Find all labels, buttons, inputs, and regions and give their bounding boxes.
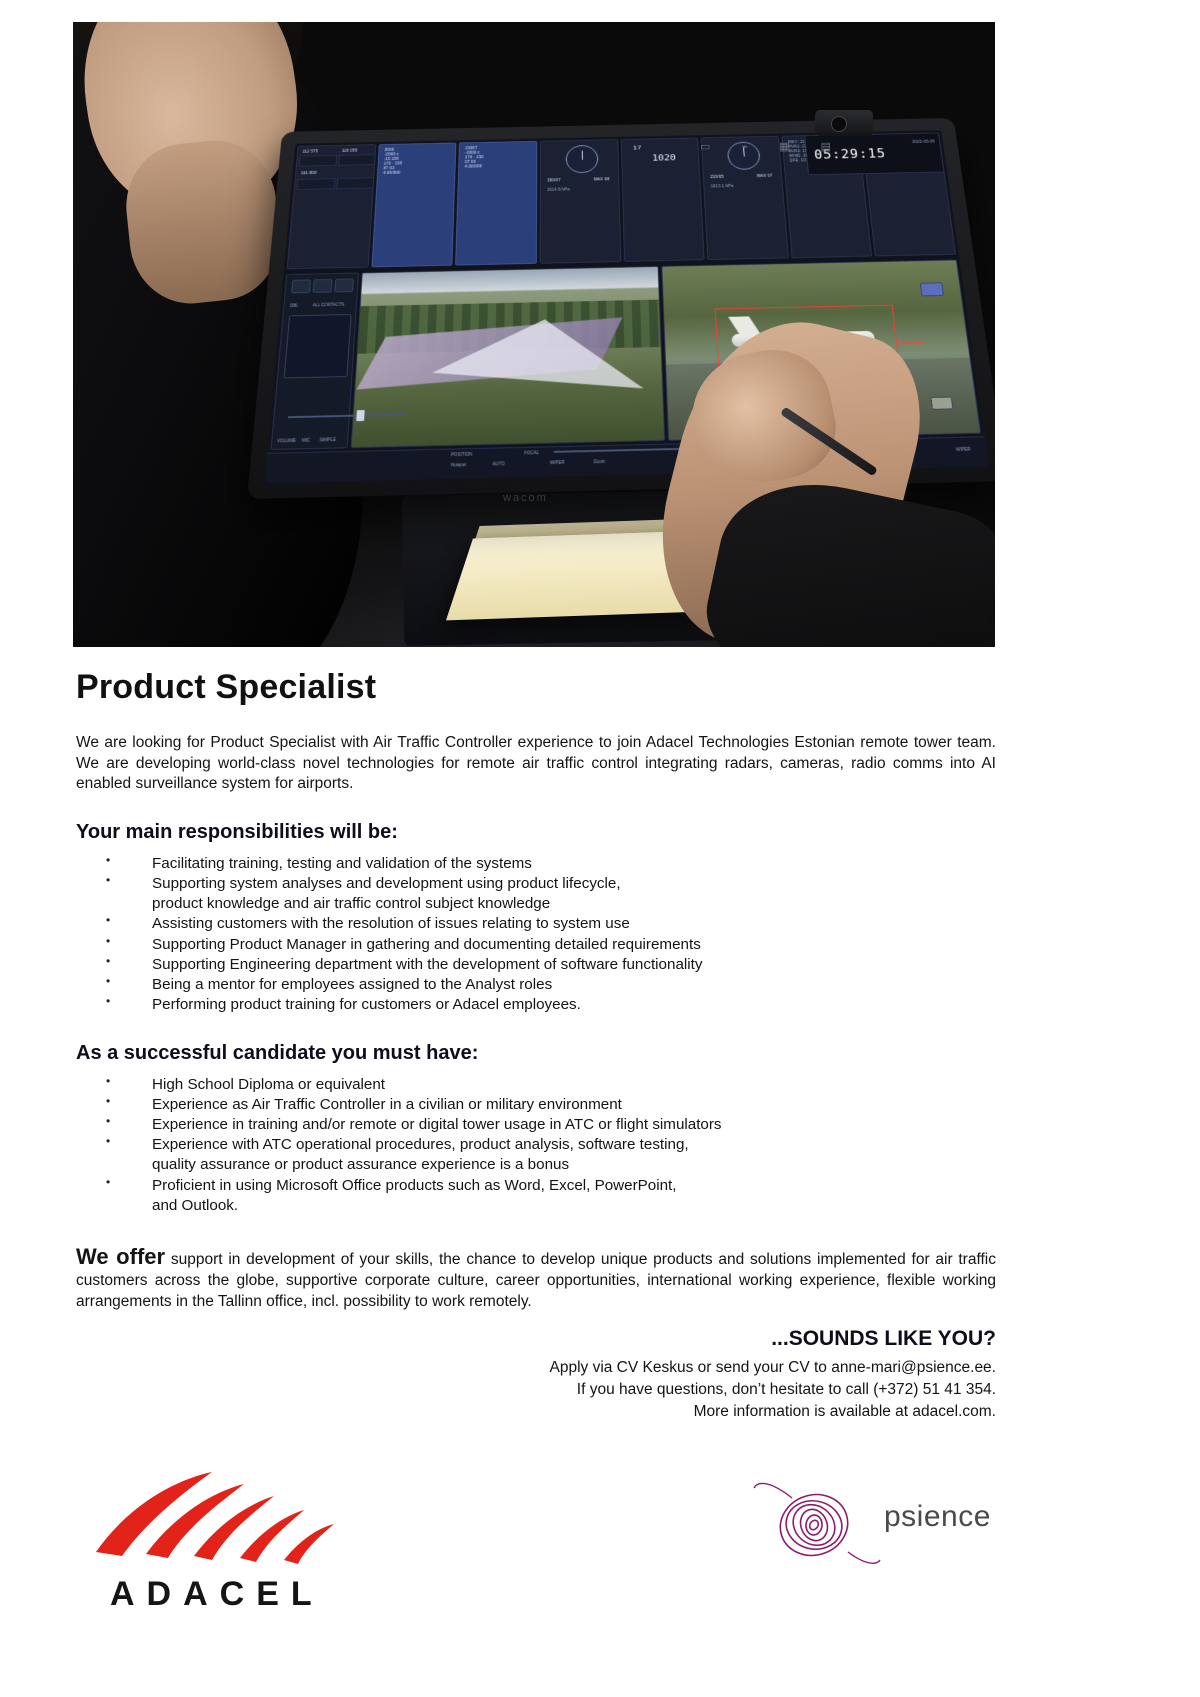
list-item-line1: Proficient in using Microsoft Office pro…	[152, 1177, 676, 1194]
list-item: Facilitating training, testing and valid…	[106, 854, 996, 874]
rail-phone-icon	[291, 279, 311, 293]
clock-panel: 2022-05-06 05:29:15	[804, 133, 944, 176]
list-item: Experience with ATC operational procedur…	[106, 1135, 996, 1175]
list-item: Being a mentor for employees assigned to…	[106, 975, 996, 995]
list-item: Experience as Air Traffic Controller in …	[106, 1095, 996, 1115]
list-item-line2: and Outlook.	[152, 1196, 996, 1216]
cta-heading: ...SOUNDS LIKE YOU?	[76, 1327, 996, 1351]
list-item: Experience in training and/or remote or …	[106, 1115, 996, 1135]
responsibilities-list: Facilitating training, testing and valid…	[76, 854, 996, 1016]
clock-date: 2022-05-06	[912, 139, 935, 144]
rail-label-dbl: DBL	[290, 303, 299, 307]
label-hotspot: Hotspot	[451, 462, 467, 467]
job-posting-content: Product Specialist We are looking for Pr…	[76, 668, 996, 1423]
psience-wordmark: psience	[884, 1500, 991, 1534]
list-item: Supporting Product Manager in gathering …	[106, 935, 996, 955]
panel-compass-b: 210/05 MAX 07 1013.1 hPa	[701, 136, 789, 260]
qnh-b: 1013.1 hPa	[708, 182, 736, 190]
psience-spiral-icon	[752, 1478, 882, 1573]
list-item-line1: Supporting Product Manager in gathering …	[152, 936, 701, 953]
list-item-line1: Being a mentor for employees assigned to…	[152, 976, 552, 993]
label-wiper-right: WIPER	[956, 447, 971, 452]
panel-runway-designators: 1020 17 35	[620, 138, 704, 262]
heading-210-05: 210/05	[707, 173, 726, 181]
list-item: Supporting system analyses and developme…	[106, 874, 996, 914]
contact-block: Apply via CV Keskus or send your CV to a…	[76, 1357, 996, 1423]
sub-block-b	[338, 154, 376, 166]
offer-lead: We offer	[76, 1244, 165, 1269]
page-title: Product Specialist	[76, 668, 996, 707]
hero-photo: 112 575 118 055 161 800 2000-2000 c-15 2…	[73, 22, 995, 647]
list-item: Proficient in using Microsoft Office pro…	[106, 1176, 996, 1216]
tool-rail: DBL ALL CONTACTS VOLUME MIC SIMPLE	[270, 273, 359, 450]
zoom-slider-knob[interactable]	[356, 410, 364, 421]
list-item-line1: Experience as Air Traffic Controller in …	[152, 1096, 622, 1113]
rail-label-all-contacts: ALL CONTACTS	[312, 302, 344, 307]
label-focal: FOCAL	[524, 450, 539, 455]
adacel-logo	[88, 1466, 353, 1576]
rail-grid	[284, 314, 352, 378]
label-auto: AUTO	[492, 461, 504, 466]
rail-undo-icon	[313, 279, 333, 293]
contact-line-website: More information is available at adacel.…	[76, 1401, 996, 1423]
responsibilities-heading: Your main responsibilities will be:	[76, 821, 996, 844]
rail-label-mic: MIC	[302, 438, 311, 443]
list-item-line1: Assisting customers with the resolution …	[152, 915, 630, 932]
max-07: MAX 07	[754, 172, 775, 180]
list-item-line2: product knowledge and air traffic contro…	[152, 894, 996, 914]
vehicle-marker-2	[930, 396, 953, 409]
rail-label-simple: SIMPLE	[319, 437, 336, 442]
rwy-17: 17	[630, 142, 644, 154]
panel-flight-strip-1: 2000-2000 c-15 200170 · 23007 034.00/000	[371, 143, 457, 268]
label-position: POSITION	[451, 452, 472, 457]
list-item: Assisting customers with the resolution …	[106, 914, 996, 934]
list-item-line1: Performing product training for customer…	[152, 996, 581, 1013]
rail-redo-icon	[334, 279, 354, 293]
list-item-line1: High School Diploma or equivalent	[152, 1076, 385, 1093]
qnh-a: 1014.8 hPa	[544, 186, 572, 195]
list-item-line1: Supporting Engineering department with t…	[152, 956, 702, 973]
rail-label-volume: VOLUME	[277, 438, 296, 443]
panel-compass-a: 190/07 MAX 08 1014.8 hPa	[540, 139, 621, 263]
panel-left-readouts: 112 575 118 055 161 800	[287, 144, 376, 269]
max-08: MAX 08	[591, 175, 612, 183]
camera-view-panorama	[351, 266, 666, 448]
contact-line-phone: If you have questions, don’t hesitate to…	[76, 1379, 996, 1401]
list-item-line1: Experience with ATC operational procedur…	[152, 1136, 689, 1153]
list-item-line2: quality assurance or product assurance e…	[152, 1155, 996, 1175]
panel-flight-strip-2: 23067-2000 c170 · 23007 034.00/000	[455, 141, 537, 266]
requirements-list: High School Diploma or equivalent Experi…	[76, 1075, 996, 1217]
sub-block-d	[336, 177, 375, 189]
list-item-line1: Supporting system analyses and developme…	[152, 875, 621, 892]
sub-block-a	[299, 155, 338, 167]
list-item-line1: Facilitating training, testing and valid…	[152, 855, 532, 872]
contact-line-apply: Apply via CV Keskus or send your CV to a…	[76, 1357, 996, 1379]
vehicle-marker-1	[920, 282, 944, 296]
console-camera-icon	[815, 110, 873, 136]
sub-block-c	[296, 178, 335, 190]
list-item: Performing product training for customer…	[106, 995, 996, 1015]
intro-paragraph: We are looking for Product Specialist wi…	[76, 733, 996, 795]
strip-text-1: 2000-2000 c-15 200170 · 23007 034.00/000	[380, 146, 406, 178]
offer-body: support in development of your skills, t…	[76, 1251, 996, 1310]
adacel-wordmark: ADACEL	[110, 1575, 324, 1614]
label-wiper: WIPER	[550, 460, 565, 465]
adacel-swoosh-icon	[88, 1466, 353, 1576]
wacom-brand-mark: wacom	[503, 492, 548, 504]
requirements-heading: As a successful candidate you must have:	[76, 1042, 996, 1065]
list-item: Supporting Engineering department with t…	[106, 955, 996, 975]
readout-161800: 161 800	[298, 169, 320, 177]
list-item: High School Diploma or equivalent	[106, 1075, 996, 1095]
label-zoom: Zoom	[594, 459, 605, 464]
compass-rose-a	[566, 145, 599, 173]
strip-text-2: 23067-2000 c170 · 23007 034.00/000	[462, 144, 487, 171]
console-status-icons: ▭ ⌁ ▦ ▤	[700, 140, 845, 153]
heading-190-07: 190/07	[544, 176, 563, 184]
list-item-line1: Experience in training and/or remote or …	[152, 1116, 722, 1133]
offer-paragraph: We offer support in development of your …	[76, 1242, 996, 1312]
rwy-1020: 1020	[652, 152, 676, 162]
